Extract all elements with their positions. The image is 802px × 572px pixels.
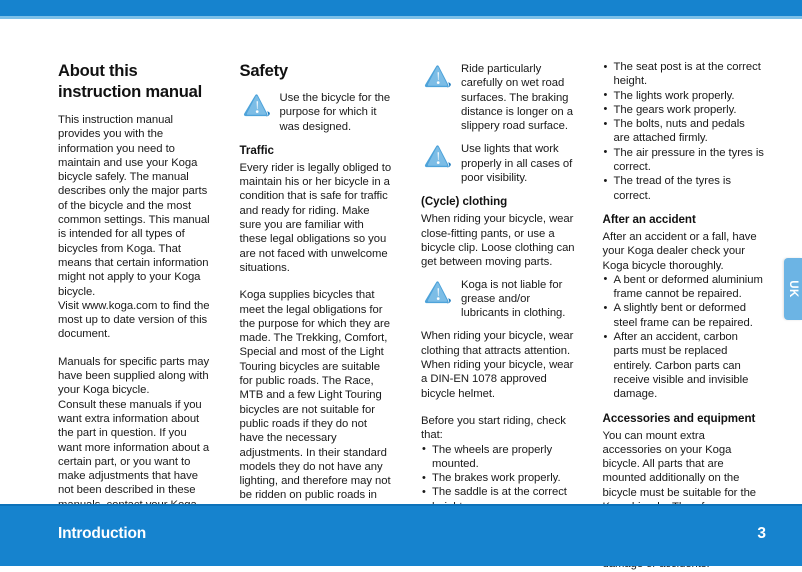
- wet-road-note-text: Ride particularly carefully on wet road …: [461, 62, 576, 133]
- column-one: About this instruction manual This instr…: [58, 60, 213, 500]
- clothing-paragraph-1: When riding your bicycle, wear close-fit…: [421, 212, 576, 269]
- accessories-heading: Accessories and equipment: [603, 412, 764, 426]
- after-accident-paragraph: After an accident or a fall, have your K…: [603, 230, 764, 273]
- traffic-heading: Traffic: [240, 144, 395, 158]
- after-accident-list: A bent or deformed aluminium frame canno…: [603, 273, 764, 402]
- list-item: A bent or deformed aluminium frame canno…: [603, 273, 764, 302]
- safety-note-1: Use the bicycle for the purpose for whic…: [240, 91, 395, 134]
- footer-chapter-title: Introduction: [58, 525, 146, 543]
- page-title: About this instruction manual: [58, 60, 213, 102]
- list-item: A slightly bent or deformed steel frame …: [603, 301, 764, 330]
- language-tab[interactable]: UK: [784, 258, 802, 320]
- top-accent-underline: [0, 16, 802, 19]
- col1-paragraph-1: This instruction manual provides you wit…: [58, 113, 213, 299]
- lubricants-note: Koga is not liable for grease and/or lub…: [421, 278, 576, 321]
- traffic-paragraph-1: Every rider is legally obliged to mainta…: [240, 161, 395, 275]
- page-content: About this instruction manual This instr…: [58, 60, 764, 500]
- top-accent-bar: [0, 0, 802, 16]
- pre-ride-check-intro: Before you start riding, check that:: [421, 414, 576, 443]
- pre-ride-check-list-continued: The seat post is at the correct height. …: [603, 60, 764, 203]
- lubricants-note-text: Koga is not liable for grease and/or lub…: [461, 278, 576, 321]
- footer-top-divider: [0, 504, 802, 506]
- lights-note: Use lights that work properly in all cas…: [421, 142, 576, 185]
- warning-triangle-icon: [421, 143, 455, 173]
- clothing-paragraph-2: When riding your bicycle, wear clothing …: [421, 329, 576, 358]
- column-three: Ride particularly carefully on wet road …: [421, 60, 576, 500]
- col1-paragraph-2: Visit www.koga.com to find the most up t…: [58, 299, 213, 342]
- safety-note-1-text: Use the bicycle for the purpose for whic…: [280, 91, 395, 134]
- safety-heading: Safety: [240, 60, 395, 81]
- clothing-paragraph-3: When riding your bicycle, wear a DIN-EN …: [421, 358, 576, 401]
- list-item: After an accident, carbon parts must be …: [603, 330, 764, 401]
- list-item: The air pressure in the tyres is correct…: [603, 146, 764, 175]
- warning-triangle-icon: [421, 279, 455, 309]
- list-item: The lights work properly.: [603, 89, 764, 103]
- footer-page-number: 3: [757, 525, 766, 543]
- list-item: The tread of the tyres is correct.: [603, 174, 764, 203]
- column-two: Safety Use the bicycle for the purpose f…: [240, 60, 395, 500]
- warning-triangle-icon: [421, 63, 455, 93]
- column-four: The seat post is at the correct height. …: [603, 60, 764, 500]
- list-item: The brakes work properly.: [421, 471, 576, 485]
- list-item: The gears work properly.: [603, 103, 764, 117]
- list-item: The wheels are properly mounted.: [421, 443, 576, 472]
- after-accident-heading: After an accident: [603, 213, 764, 227]
- cycle-clothing-heading: (Cycle) clothing: [421, 195, 576, 209]
- list-item: The seat post is at the correct height.: [603, 60, 764, 89]
- language-tab-label: UK: [784, 258, 802, 320]
- warning-triangle-icon: [240, 92, 274, 122]
- col1-paragraph-3: Manuals for specific parts may have been…: [58, 355, 213, 398]
- wet-road-note: Ride particularly carefully on wet road …: [421, 62, 576, 133]
- list-item: The bolts, nuts and pedals are attached …: [603, 117, 764, 146]
- page-footer: Introduction 3: [0, 504, 802, 566]
- lights-note-text: Use lights that work properly in all cas…: [461, 142, 576, 185]
